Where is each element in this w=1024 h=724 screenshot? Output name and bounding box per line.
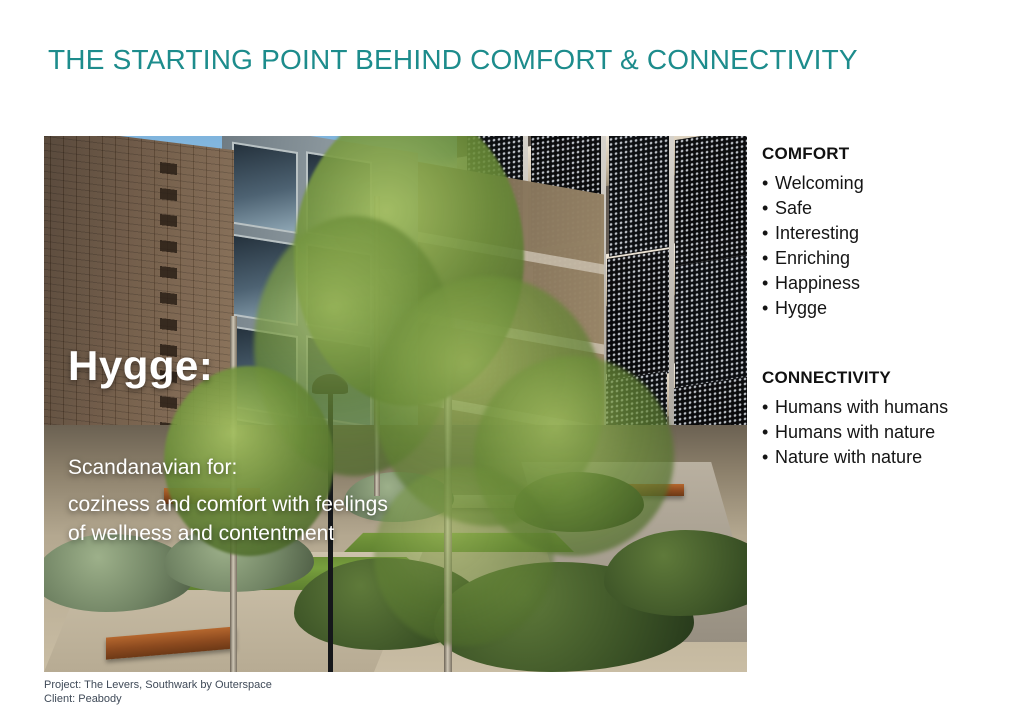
list-item: •Interesting	[762, 221, 1012, 246]
overlay-line-2: coziness and comfort with feelings	[68, 490, 388, 519]
list-item: •Enriching	[762, 246, 1012, 271]
list-item-label: Humans with nature	[775, 420, 935, 445]
list-item-label: Interesting	[775, 221, 859, 246]
overlay-description: Scandanavian for: coziness and comfort w…	[68, 453, 388, 548]
list-item: •Nature with nature	[762, 445, 1022, 470]
caption-project: Project: The Levers, Southwark by Outers…	[44, 678, 272, 692]
list-item-label: Enriching	[775, 246, 850, 271]
comfort-heading: COMFORT	[762, 144, 1012, 164]
bullet-icon: •	[762, 445, 775, 470]
page-title: THE STARTING POINT BEHIND COMFORT & CONN…	[48, 44, 858, 76]
photo-canvas: Hygge: Scandanavian for: coziness and co…	[44, 136, 747, 672]
bullet-icon: •	[762, 296, 775, 321]
bullet-icon: •	[762, 171, 775, 196]
list-item-label: Happiness	[775, 271, 860, 296]
comfort-list: •Welcoming •Safe •Interesting •Enriching…	[762, 171, 1012, 321]
courtyard-photo: Hygge: Scandanavian for: coziness and co…	[44, 136, 747, 672]
bullet-icon: •	[762, 395, 775, 420]
list-item: •Happiness	[762, 271, 1012, 296]
comfort-group: COMFORT •Welcoming •Safe •Interesting •E…	[762, 144, 1012, 321]
caption-client: Client: Peabody	[44, 692, 272, 706]
list-item-label: Nature with nature	[775, 445, 922, 470]
bullet-icon: •	[762, 271, 775, 296]
bullet-icon: •	[762, 196, 775, 221]
overlay-line-1: Scandanavian for:	[68, 453, 388, 482]
list-item-label: Humans with humans	[775, 395, 948, 420]
photo-caption: Project: The Levers, Southwark by Outers…	[44, 678, 272, 706]
connectivity-list: •Humans with humans •Humans with nature …	[762, 395, 1022, 470]
list-item: •Hygge	[762, 296, 1012, 321]
list-item-label: Hygge	[775, 296, 827, 321]
slide: THE STARTING POINT BEHIND COMFORT & CONN…	[0, 0, 1024, 724]
list-item-label: Welcoming	[775, 171, 864, 196]
bullet-icon: •	[762, 246, 775, 271]
overlay-line-3: of wellness and contentment	[68, 519, 388, 548]
list-item: •Safe	[762, 196, 1012, 221]
list-item-label: Safe	[775, 196, 812, 221]
overlay-headline: Hygge:	[68, 342, 213, 390]
list-item: •Humans with nature	[762, 420, 1022, 445]
list-item: •Welcoming	[762, 171, 1012, 196]
list-item: •Humans with humans	[762, 395, 1022, 420]
bullet-icon: •	[762, 221, 775, 246]
connectivity-group: CONNECTIVITY •Humans with humans •Humans…	[762, 368, 1022, 470]
tree-canopy	[374, 466, 554, 646]
bullet-icon: •	[762, 420, 775, 445]
connectivity-heading: CONNECTIVITY	[762, 368, 1022, 388]
